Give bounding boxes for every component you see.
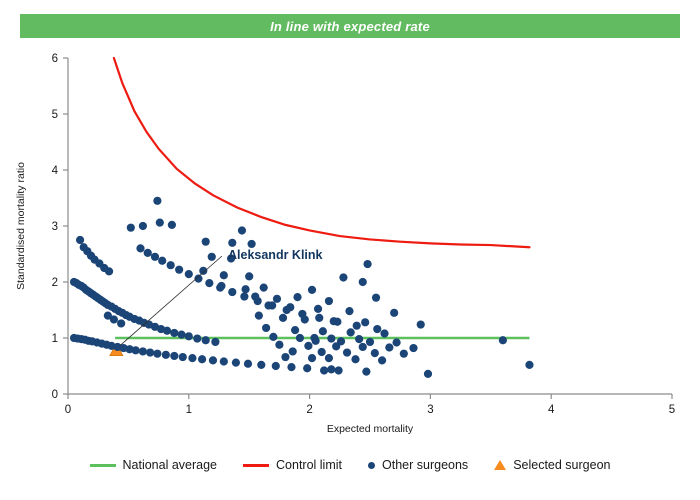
legend-selected-surgeon[interactable]: Selected surgeon	[494, 458, 610, 472]
x-tick-label: 3	[427, 404, 433, 416]
other-surgeon-point	[359, 278, 367, 286]
chart-legend: National averageControl limitOther surge…	[0, 452, 700, 478]
other-surgeon-point	[319, 327, 327, 335]
other-surgeon-point	[314, 305, 322, 313]
other-surgeon-point	[308, 286, 316, 294]
other-surgeon-point	[330, 317, 338, 325]
other-surgeon-point	[273, 295, 281, 303]
other-surgeon-point	[228, 239, 236, 247]
other-surgeon-point	[339, 273, 347, 281]
other-surgeon-point	[351, 355, 359, 363]
other-surgeon-point	[378, 356, 386, 364]
other-surgeon-point	[117, 319, 125, 327]
other-surgeon-point	[205, 279, 213, 287]
other-surgeon-point	[144, 249, 152, 257]
other-surgeon-point	[363, 260, 371, 268]
other-surgeon-point	[76, 236, 84, 244]
other-surgeon-point	[304, 342, 312, 350]
y-tick-label: 2	[52, 277, 58, 289]
x-tick-label: 2	[306, 404, 312, 416]
other-surgeon-point	[286, 303, 294, 311]
other-surgeon-point	[211, 338, 219, 346]
other-surgeon-point	[301, 315, 309, 323]
other-surgeon-point	[325, 297, 333, 305]
legend-label: Other surgeons	[382, 458, 468, 472]
other-surgeon-point	[255, 312, 263, 320]
other-surgeon-point	[355, 335, 363, 343]
other-surgeon-point	[279, 314, 287, 322]
other-surgeon-point	[175, 266, 183, 274]
other-surgeon-point	[296, 334, 304, 342]
annotation-label: Aleksandr Klink	[228, 248, 323, 262]
other-surgeon-point	[110, 315, 118, 323]
other-surgeon-point	[308, 354, 316, 362]
other-surgeon-point	[198, 355, 206, 363]
other-surgeon-point	[127, 224, 135, 232]
other-surgeon-point	[153, 197, 161, 205]
other-surgeon-point	[343, 348, 351, 356]
other-surgeon-point	[291, 326, 299, 334]
other-surgeon-point	[139, 347, 147, 355]
other-surgeon-point	[315, 314, 323, 322]
other-surgeon-point	[424, 370, 432, 378]
other-surgeon-point	[499, 336, 507, 344]
control-limit-path	[114, 58, 530, 247]
other-surgeon-point	[151, 253, 159, 261]
other-surgeon-point	[248, 240, 256, 248]
other-surgeon-point	[320, 366, 328, 374]
other-surgeon-point	[417, 320, 425, 328]
other-surgeon-point	[245, 272, 253, 280]
y-tick-label: 0	[52, 389, 58, 401]
other-surgeon-point	[327, 365, 335, 373]
other-surgeon-point	[202, 238, 210, 246]
other-surgeon-point	[334, 366, 342, 374]
other-surgeon-point	[287, 363, 295, 371]
other-surgeon-point	[179, 353, 187, 361]
legend-label: Selected surgeon	[513, 458, 610, 472]
other-surgeon-point	[228, 288, 236, 296]
other-surgeon-point	[146, 348, 154, 356]
x-tick-label: 0	[65, 404, 71, 416]
other-surgeon-point	[327, 334, 335, 342]
other-surgeon-point	[332, 342, 340, 350]
other-surgeon-point	[177, 331, 185, 339]
other-surgeon-point	[238, 226, 246, 234]
other-surgeon-point	[272, 362, 280, 370]
other-surgeon-point	[193, 334, 201, 342]
other-surgeon-point	[359, 343, 367, 351]
other-surgeon-point	[318, 348, 326, 356]
other-surgeon-point	[202, 336, 210, 344]
other-surgeon-point	[162, 351, 170, 359]
other-surgeon-point	[132, 346, 140, 354]
other-surgeon-point	[385, 343, 393, 351]
other-surgeon-point	[185, 270, 193, 278]
other-surgeon-point	[275, 341, 283, 349]
other-surgeon-point	[345, 307, 353, 315]
legend-national-average[interactable]: National average	[90, 458, 218, 472]
y-axis-title: Standardised mortality ratio	[15, 162, 27, 290]
y-tick-label: 6	[52, 53, 58, 65]
other-surgeon-point	[293, 293, 301, 301]
other-surgeon-point	[392, 338, 400, 346]
other-surgeon-point	[156, 219, 164, 227]
other-surgeon-point	[264, 301, 272, 309]
other-surgeon-point	[347, 328, 355, 336]
other-surgeon-point	[262, 324, 270, 332]
other-surgeon-point	[260, 284, 268, 292]
other-surgeon-point	[361, 318, 369, 326]
other-surgeon-point	[153, 350, 161, 358]
other-surgeon-point	[269, 333, 277, 341]
other-surgeon-point	[168, 221, 176, 229]
other-surgeon-point	[163, 327, 171, 335]
other-surgeon-point	[170, 329, 178, 337]
other-surgeon-point	[257, 361, 265, 369]
other-surgeon-point	[232, 359, 240, 367]
other-surgeon-point	[158, 257, 166, 265]
other-surgeon-point	[170, 352, 178, 360]
other-surgeon-point	[372, 294, 380, 302]
other-surgeon-point	[303, 364, 311, 372]
other-surgeon-point	[244, 360, 252, 368]
legend-other-surgeons[interactable]: Other surgeons	[368, 458, 468, 472]
legend-control-limit[interactable]: Control limit	[243, 458, 342, 472]
legend-triangle-swatch-icon	[494, 460, 506, 470]
other-surgeon-point	[208, 253, 216, 261]
other-surgeon-point	[199, 267, 207, 275]
other-surgeon-point	[251, 292, 259, 300]
other-surgeon-point	[136, 244, 144, 252]
other-surgeon-point	[217, 282, 225, 290]
other-surgeon-point	[380, 329, 388, 337]
other-surgeon-point	[241, 285, 249, 293]
y-tick-label: 5	[52, 109, 58, 121]
other-surgeon-point	[167, 261, 175, 269]
other-surgeon-point	[220, 357, 228, 365]
other-surgeon-point	[390, 309, 398, 317]
legend-dot-swatch-icon	[368, 462, 375, 469]
legend-label: Control limit	[276, 458, 342, 472]
other-surgeon-point	[362, 368, 370, 376]
legend-line-swatch-icon	[243, 464, 269, 467]
other-surgeon-point	[139, 222, 147, 230]
funnel-plot-svg: 0123450123456Expected mortalityStandardi…	[0, 0, 700, 500]
other-surgeon-point	[185, 332, 193, 340]
other-surgeon-point	[366, 338, 374, 346]
other-surgeon-point	[209, 356, 217, 364]
other-surgeon-point	[353, 322, 361, 330]
legend-line-swatch-icon	[90, 464, 116, 467]
y-tick-label: 1	[52, 333, 58, 345]
other-surgeon-point	[525, 361, 533, 369]
funnel-plot-page: In line with expected rate 0123450123456…	[0, 0, 700, 500]
x-axis-title: Expected mortality	[327, 423, 414, 435]
other-surgeon-point	[400, 350, 408, 358]
other-surgeon-point	[240, 292, 248, 300]
control-limit-curve	[114, 58, 530, 247]
other-surgeon-point	[220, 271, 228, 279]
other-surgeon-point	[409, 344, 417, 352]
other-surgeon-point	[373, 325, 381, 333]
y-tick-label: 4	[52, 165, 59, 177]
other-surgeon-point	[188, 354, 196, 362]
y-tick-label: 3	[52, 221, 58, 233]
data-points	[70, 197, 534, 378]
axes: 0123450123456Expected mortalityStandardi…	[15, 53, 675, 435]
other-surgeon-point	[281, 353, 289, 361]
other-surgeon-point	[325, 354, 333, 362]
other-surgeon-point	[289, 347, 297, 355]
other-surgeon-point	[194, 275, 202, 283]
other-surgeon-point	[371, 349, 379, 357]
x-tick-label: 4	[548, 404, 555, 416]
x-tick-label: 1	[186, 404, 192, 416]
other-surgeon-point	[312, 337, 320, 345]
legend-label: National average	[123, 458, 218, 472]
other-surgeon-point	[105, 267, 113, 275]
x-tick-label: 5	[669, 404, 675, 416]
chart-area: 0123450123456Expected mortalityStandardi…	[0, 0, 700, 500]
